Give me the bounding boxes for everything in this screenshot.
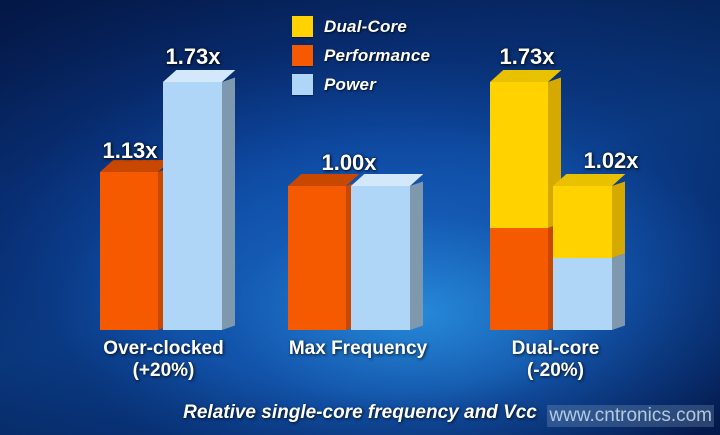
legend-swatch-dual-core	[292, 16, 313, 37]
bar-segment-performance	[490, 228, 548, 330]
legend-item-dual-core: Dual-Core	[292, 12, 430, 41]
value-label-maxfrequency: 1.00x	[303, 150, 395, 176]
value-label-dualcore-performance: 1.73x	[481, 44, 573, 70]
value-label-dualcore-power: 1.02x	[565, 148, 657, 174]
bar-segment-dual-core	[490, 82, 548, 228]
bar-maxfrequency-power	[351, 186, 410, 330]
bar-front-face	[163, 82, 222, 330]
bar-side-segment-dual-core	[612, 182, 625, 258]
legend-swatch-power	[292, 74, 313, 95]
category-label-dualcore-sub: (-20%)	[448, 360, 663, 382]
bar-front-face	[553, 186, 612, 330]
bar-front-face	[351, 186, 410, 330]
category-label-overclocked-sub: (+20%)	[56, 360, 271, 382]
chart-legend: Dual-Core Performance Power	[292, 12, 430, 99]
category-label-maxfrequency: Max Frequency	[258, 338, 458, 360]
value-label-overclocked-performance: 1.13x	[85, 138, 175, 164]
legend-label-dual-core: Dual-Core	[324, 17, 407, 37]
bar-dualcore-power-stack	[553, 186, 612, 330]
value-label-overclocked-power: 1.73x	[147, 44, 239, 70]
legend-swatch-performance	[292, 45, 313, 66]
chart-slide: Dual-Core Performance Power 1.13x 1.73x	[0, 0, 720, 435]
category-label-overclocked-main: Over-clocked	[103, 338, 223, 359]
legend-label-power: Power	[324, 75, 376, 95]
watermark-text: www.cntronics.com	[547, 405, 714, 427]
category-label-dualcore-main: Dual-core	[512, 338, 600, 359]
bar-side-face	[410, 182, 423, 330]
bar-segment-power	[553, 258, 612, 330]
bar-overclocked-performance	[100, 172, 158, 330]
bar-overclocked-power	[163, 82, 222, 330]
bar-dualcore-performance-stack	[490, 82, 548, 330]
category-label-overclocked: Over-clocked (+20%)	[56, 338, 271, 383]
bar-maxfrequency-performance	[288, 186, 346, 330]
bar-side-face	[612, 182, 625, 330]
legend-item-performance: Performance	[292, 41, 430, 70]
bar-front-face	[288, 186, 346, 330]
category-label-maxfrequency-main: Max Frequency	[289, 338, 427, 359]
bar-front-face	[490, 82, 548, 330]
legend-label-performance: Performance	[324, 46, 430, 66]
bar-segment-dual-core	[553, 186, 612, 258]
category-label-dualcore: Dual-core (-20%)	[448, 338, 663, 383]
bar-side-face	[222, 78, 235, 330]
bar-front-face	[100, 172, 158, 330]
legend-item-power: Power	[292, 70, 430, 99]
bar-side-segment-power	[612, 254, 625, 330]
